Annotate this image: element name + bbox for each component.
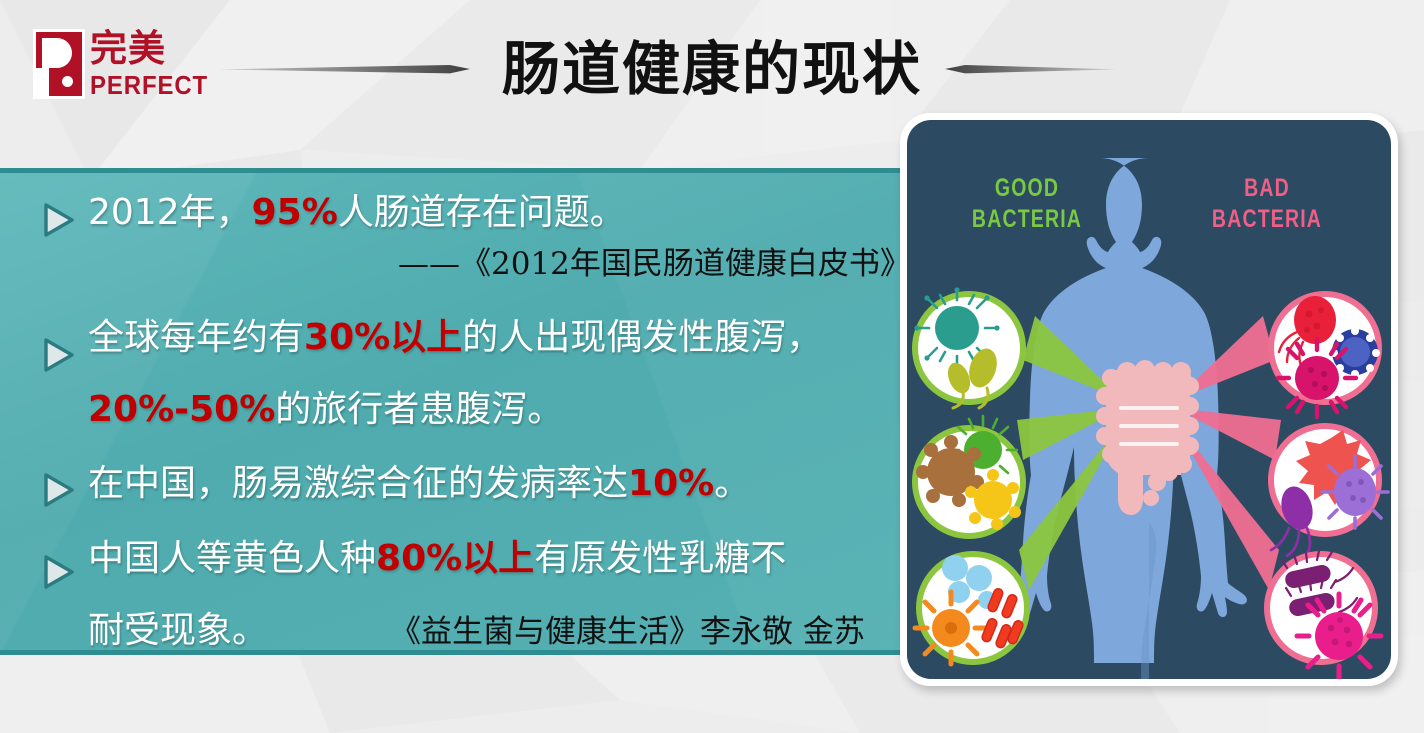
bullet-text-seg: 全球每年约有 <box>88 317 304 358</box>
good-bacteria-bubble-2 <box>915 416 1023 536</box>
infographic-canvas: GOOD BACTERIA BAD BACTERIA <box>907 120 1391 679</box>
bullet-text-seg: 有原发性乳糖不 <box>534 538 786 579</box>
bad-bacteria-bubble-2 <box>1271 426 1388 556</box>
bullet-text-2-line-2: 20%-50%的旅行者患腹泻。 <box>88 384 563 436</box>
bullet-highlight-seg: 80%以上 <box>376 538 534 579</box>
good-label-line-2: BACTERIA <box>972 205 1082 233</box>
bullet-text-seg: 2012年， <box>88 192 252 233</box>
bad-bacteria-bubble-3 <box>1267 551 1381 678</box>
good-bacteria-bubble-1 <box>914 287 1023 408</box>
bullet-highlight-seg: 20%-50% <box>88 389 275 430</box>
infographic-card[interactable]: GOOD BACTERIA BAD BACTERIA <box>900 113 1398 686</box>
citation-1: ——《2012年国民肠道健康白皮书》 <box>398 245 911 283</box>
bullet-text-1: 2012年，95%人肠道存在问题。 <box>88 187 626 239</box>
page-title: 肠道健康的现状 <box>0 22 1424 106</box>
bullet-text-4-line-1: 中国人等黄色人种80%以上有原发性乳糖不 <box>88 533 786 585</box>
bullet-list: 2012年，95%人肠道存在问题。 ——《2012年国民肠道健康白皮书》 全球每… <box>0 173 902 650</box>
bullet-text-seg: 的旅行者患腹泻。 <box>275 389 563 430</box>
bullet-text-3: 在中国，肠易激综合征的发病率达10%。 <box>88 458 750 510</box>
bullet-highlight-seg: 30%以上 <box>304 317 462 358</box>
citation-2: 《益生菌与健康生活》李永敬 金苏 <box>390 613 865 651</box>
bullet-text-seg: 的人出现偶发性腹泻， <box>462 317 822 358</box>
bullet-text-seg: 在中国，肠易激综合征的发病率达 <box>88 463 628 504</box>
bullet-text-seg: 人肠道存在问题。 <box>338 192 626 233</box>
bad-bacteria-label: BAD BACTERIA <box>1181 173 1353 235</box>
bullet-highlight-seg: 10% <box>628 463 714 504</box>
triangle-bullet-icon <box>44 473 74 507</box>
bad-label-line-2: BACTERIA <box>1212 205 1322 233</box>
bad-bacteria-bubble-1 <box>1271 294 1380 417</box>
content-panel: 2012年，95%人肠道存在问题。 ——《2012年国民肠道健康白皮书》 全球每… <box>0 168 902 655</box>
bad-label-line-1: BAD <box>1244 174 1290 202</box>
good-bacteria-bubble-3 <box>915 554 1027 664</box>
bullet-text-seg: 。 <box>714 463 750 504</box>
good-label-line-1: GOOD <box>995 174 1059 202</box>
bullet-highlight-seg: 95% <box>252 192 338 233</box>
bullet-text-4-line-2: 耐受现象。 <box>88 605 268 657</box>
triangle-bullet-icon <box>44 338 74 372</box>
bullet-text-seg: 中国人等黄色人种 <box>88 538 376 579</box>
triangle-bullet-icon <box>44 203 74 237</box>
bullet-text-2-line-1: 全球每年约有30%以上的人出现偶发性腹泻， <box>88 312 822 364</box>
good-bacteria-label: GOOD BACTERIA <box>941 173 1113 235</box>
bullet-text-seg: 耐受现象。 <box>88 610 268 651</box>
triangle-bullet-icon <box>44 555 74 589</box>
